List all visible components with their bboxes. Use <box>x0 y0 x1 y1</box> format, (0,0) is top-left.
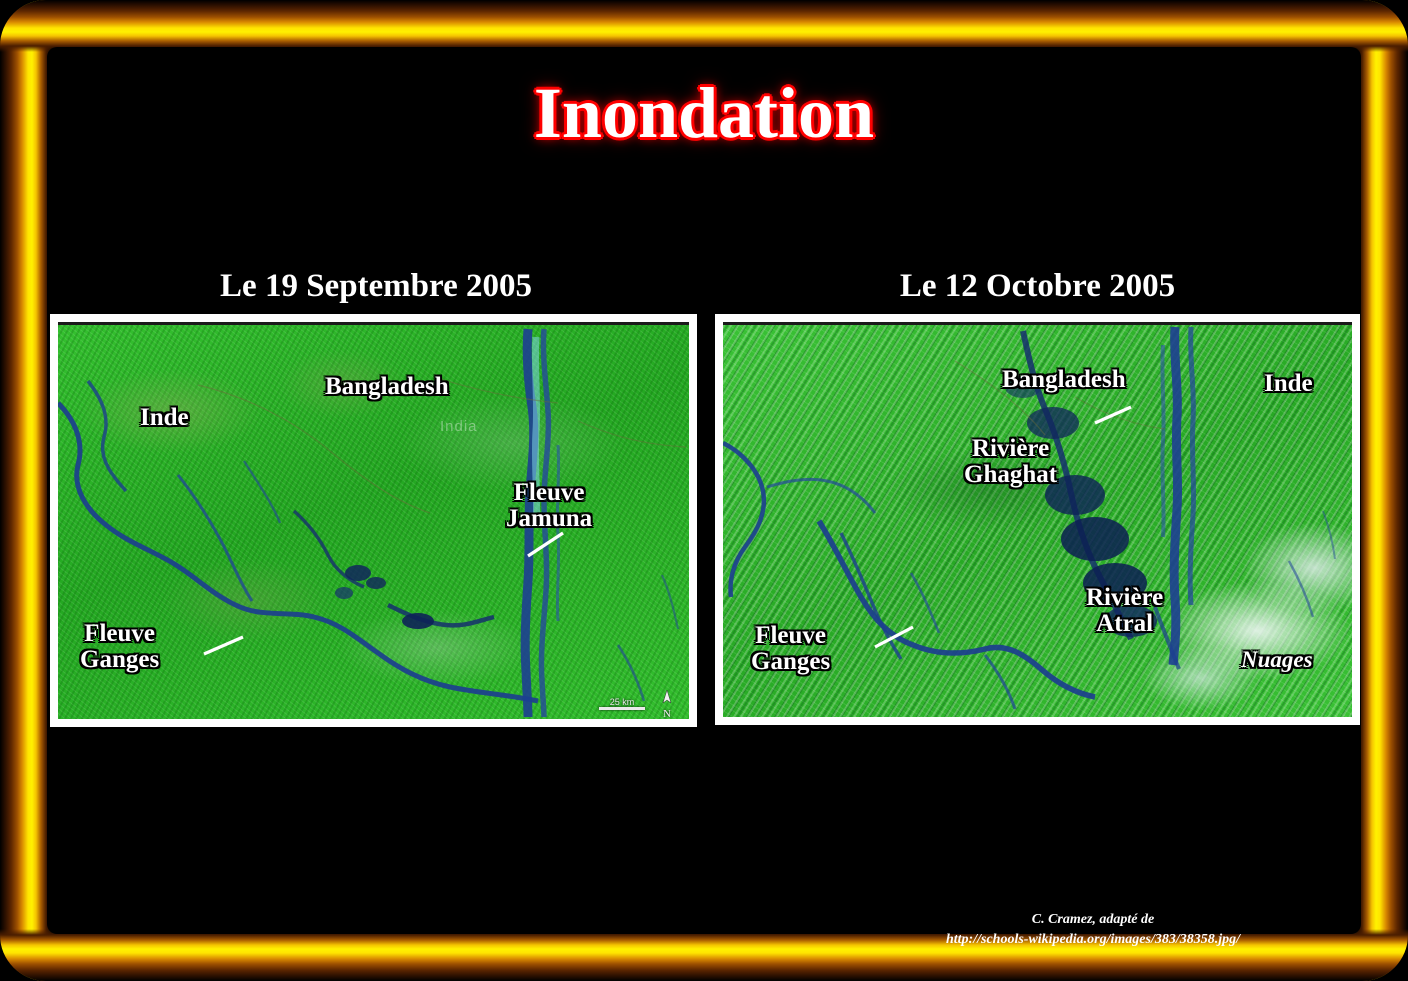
pointer-ganges-right <box>875 627 913 647</box>
satellite-panel-right[interactable]: Bangladesh Inde Rivière Ghaghat Rivière … <box>715 314 1360 725</box>
compass-north: N <box>656 689 678 719</box>
page-title: Inondation <box>0 72 1408 155</box>
pointer-ghaghat <box>1095 407 1131 423</box>
credit-block: C. Cramez, adapté de http://schools-wiki… <box>946 910 1240 951</box>
slide: Inondation Le 19 Septembre 2005 Le 12 Oc… <box>0 0 1408 981</box>
compass-label: N <box>656 708 678 719</box>
credit-author: C. Cramez, adapté de <box>946 910 1240 930</box>
label-leader-lines-right <box>723 325 1352 717</box>
credit-source-url: http://schools-wikipedia.org/images/383/… <box>946 930 1240 950</box>
scale-bar: 25 km <box>599 697 645 710</box>
satellite-panel-left[interactable]: India Inde Bangladesh Fleuve Jamuna Fleu… <box>50 314 697 727</box>
satellite-image-12-october: Bangladesh Inde Rivière Ghaghat Rivière … <box>723 322 1352 717</box>
satellite-image-19-september: India Inde Bangladesh Fleuve Jamuna Fleu… <box>58 322 689 719</box>
baked-imagery-text-india: India <box>440 418 478 435</box>
scale-bar-line <box>599 707 645 710</box>
date-caption-right: Le 12 Octobre 2005 <box>715 268 1360 305</box>
pointer-jamuna <box>528 533 563 556</box>
north-arrow-icon <box>659 689 675 705</box>
scale-bar-label: 25 km <box>599 697 645 707</box>
date-caption-left: Le 19 Septembre 2005 <box>55 268 697 305</box>
pointer-ganges-left <box>204 637 243 654</box>
label-leader-lines-left <box>58 325 689 719</box>
